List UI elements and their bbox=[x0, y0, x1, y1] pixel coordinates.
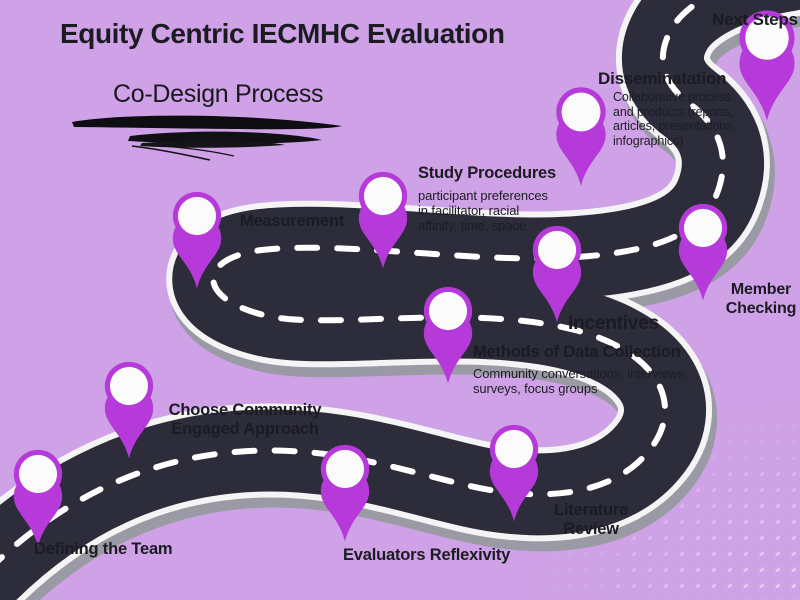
stop-label-evaluators-reflexivity: Evaluators Reflexivity bbox=[343, 546, 510, 565]
stop-body-methods-of-data-collection: Community conversations, interviews, sur… bbox=[473, 366, 688, 396]
stop-body-study-procedures: participant preferences in facilitator, … bbox=[418, 188, 558, 233]
text-layer: Equity Centric IECMHC Evaluation Co-Desi… bbox=[0, 0, 800, 600]
stop-label-measurement: Measurement bbox=[240, 212, 344, 231]
stop-label-member-checking: Member Checking bbox=[722, 281, 800, 319]
stop-label-next-steps: Next Steps bbox=[712, 10, 798, 30]
infographic-canvas: Equity Centric IECMHC Evaluation Co-Desi… bbox=[0, 0, 800, 600]
stop-label-literature-review: Literature Review bbox=[536, 501, 646, 540]
page-subtitle: Co-Design Process bbox=[113, 80, 323, 109]
stop-label-study-procedures: Study Procedures bbox=[418, 164, 556, 183]
stop-label-choose-community-engaged-approach: Choose Community Engaged Approach bbox=[165, 401, 325, 440]
stop-label-incentives: Incentives bbox=[568, 313, 659, 335]
stop-label-methods-of-data-collection: Methods of Data Collection bbox=[473, 343, 680, 362]
stop-body-disseminatation: Collaborative process and products (repo… bbox=[613, 90, 748, 148]
stop-label-defining-the-team: Defining the Team bbox=[34, 540, 172, 559]
page-title: Equity Centric IECMHC Evaluation bbox=[60, 18, 505, 50]
scribble-underline bbox=[70, 108, 370, 162]
stop-label-disseminatation: Disseminatation bbox=[598, 69, 726, 89]
